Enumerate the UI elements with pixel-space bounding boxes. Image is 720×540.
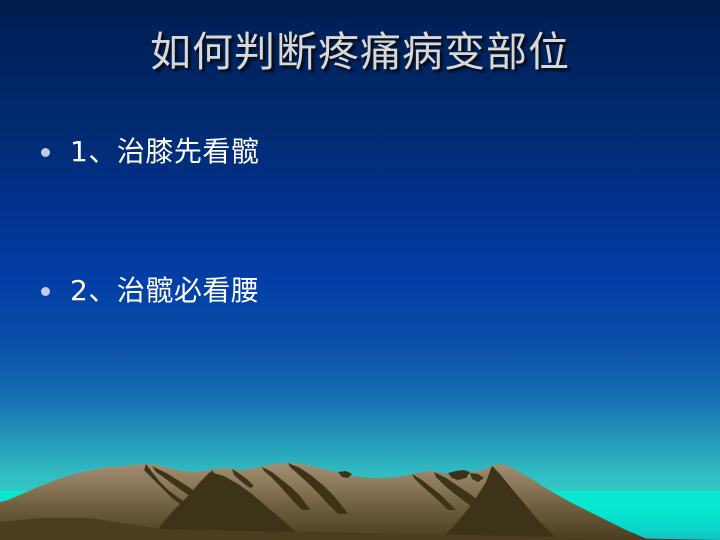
- list-item[interactable]: 1、治膝先看髋: [38, 130, 658, 174]
- bullet-text: 2、治髋必看腰: [70, 274, 658, 308]
- presentation-slide: 如何判断疼痛病变部位 1、治膝先看髋 2、治髋必看腰: [0, 0, 720, 540]
- mountain-silhouette: [0, 430, 720, 540]
- bullet-dot-icon: [41, 287, 50, 296]
- bullet-text: 1、治膝先看髋: [70, 135, 658, 169]
- bullet-dot-icon: [41, 148, 50, 157]
- slide-body-list: 1、治膝先看髋 2、治髋必看腰: [38, 130, 658, 313]
- list-item[interactable]: 2、治髋必看腰: [38, 269, 658, 313]
- slide-title: 如何判断疼痛病变部位: [0, 26, 720, 78]
